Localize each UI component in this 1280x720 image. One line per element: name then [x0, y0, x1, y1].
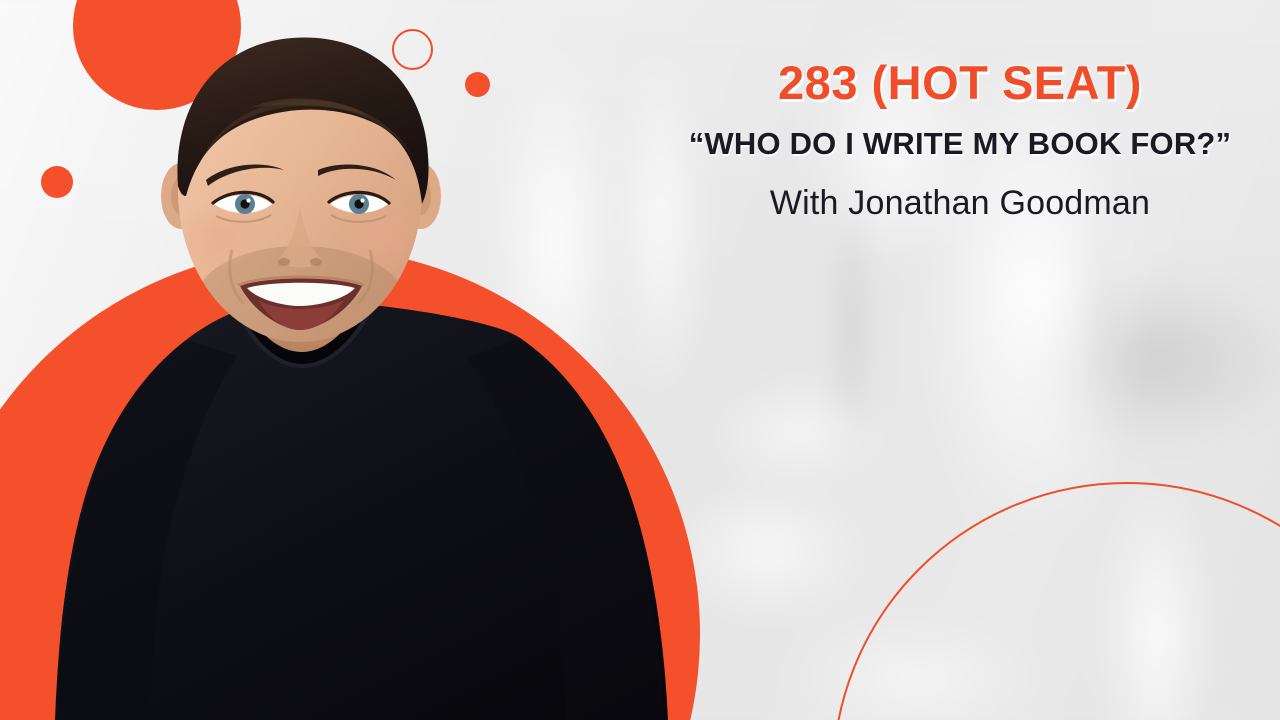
- podcast-cover-art: 283 (HOT SEAT) “WHO DO I WRITE MY BOOK F…: [0, 0, 1280, 720]
- episode-text-block: 283 (HOT SEAT) “WHO DO I WRITE MY BOOK F…: [660, 58, 1260, 222]
- head: [174, 37, 429, 354]
- episode-title: 283 (HOT SEAT): [660, 58, 1260, 107]
- episode-host: With Jonathan Goodman: [660, 185, 1260, 222]
- episode-subtitle: “WHO DO I WRITE MY BOOK FOR?”: [660, 126, 1260, 162]
- torso-shirt: [55, 296, 668, 720]
- host-portrait: [0, 0, 700, 720]
